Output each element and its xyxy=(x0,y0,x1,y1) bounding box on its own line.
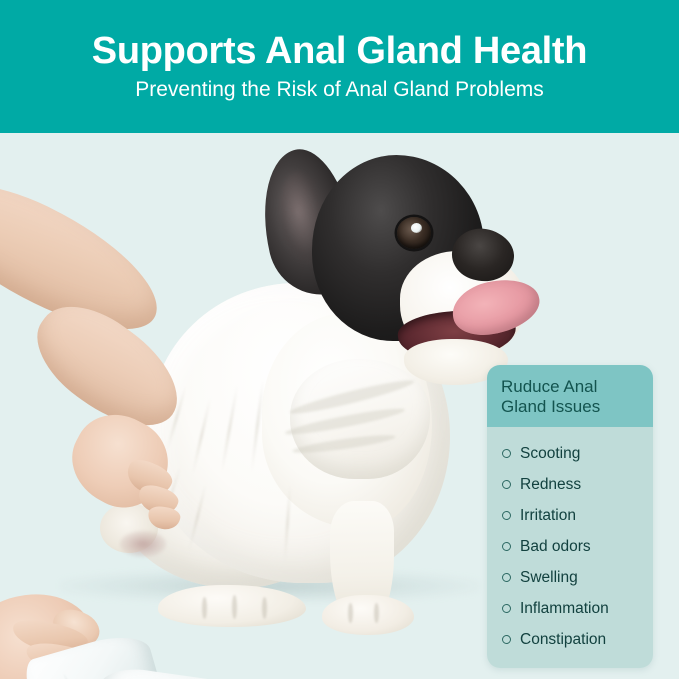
feature-panel-heading: Ruduce Anal Gland Issues xyxy=(501,377,639,416)
header-banner: Supports Anal Gland Health Preventing th… xyxy=(0,0,679,133)
list-item: Redness xyxy=(487,469,653,500)
dog-eye-highlight xyxy=(411,223,422,233)
list-item-label: Redness xyxy=(520,477,581,493)
list-item: Irritation xyxy=(487,500,653,531)
product-marketing-image: Supports Anal Gland Health Preventing th… xyxy=(0,0,679,679)
list-item: Swelling xyxy=(487,562,653,593)
hollow-circle-icon xyxy=(502,635,511,644)
hollow-circle-icon xyxy=(502,449,511,458)
paw-toe-line xyxy=(374,603,379,623)
list-item: Bad odors xyxy=(487,531,653,562)
list-item-label: Constipation xyxy=(520,632,606,648)
list-item-label: Swelling xyxy=(520,570,578,586)
hollow-circle-icon xyxy=(502,542,511,551)
list-item-label: Inflammation xyxy=(520,601,609,617)
page-title: Supports Anal Gland Health xyxy=(92,32,587,72)
dog-eye xyxy=(397,217,431,249)
list-item: Constipation xyxy=(487,624,653,655)
paw-toe-line xyxy=(232,595,237,619)
hollow-circle-icon xyxy=(502,573,511,582)
dog-anal-gland-area xyxy=(120,531,166,557)
paw-toe-line xyxy=(348,603,353,623)
list-item-label: Irritation xyxy=(520,508,576,524)
list-item-label: Bad odors xyxy=(520,539,591,555)
feature-panel: Ruduce Anal Gland Issues Scooting Rednes… xyxy=(487,365,653,668)
list-item-label: Scooting xyxy=(520,446,580,462)
feature-panel-header: Ruduce Anal Gland Issues xyxy=(487,365,653,427)
hollow-circle-icon xyxy=(502,604,511,613)
paw-toe-line xyxy=(202,597,207,619)
hollow-circle-icon xyxy=(502,511,511,520)
list-item: Scooting xyxy=(487,438,653,469)
feature-panel-body: Scooting Redness Irritation Bad odors Sw… xyxy=(487,427,653,668)
list-item: Inflammation xyxy=(487,593,653,624)
dog-front-paw xyxy=(322,595,414,635)
page-subtitle: Preventing the Risk of Anal Gland Proble… xyxy=(135,78,544,101)
paw-toe-line xyxy=(262,597,267,619)
hollow-circle-icon xyxy=(502,480,511,489)
